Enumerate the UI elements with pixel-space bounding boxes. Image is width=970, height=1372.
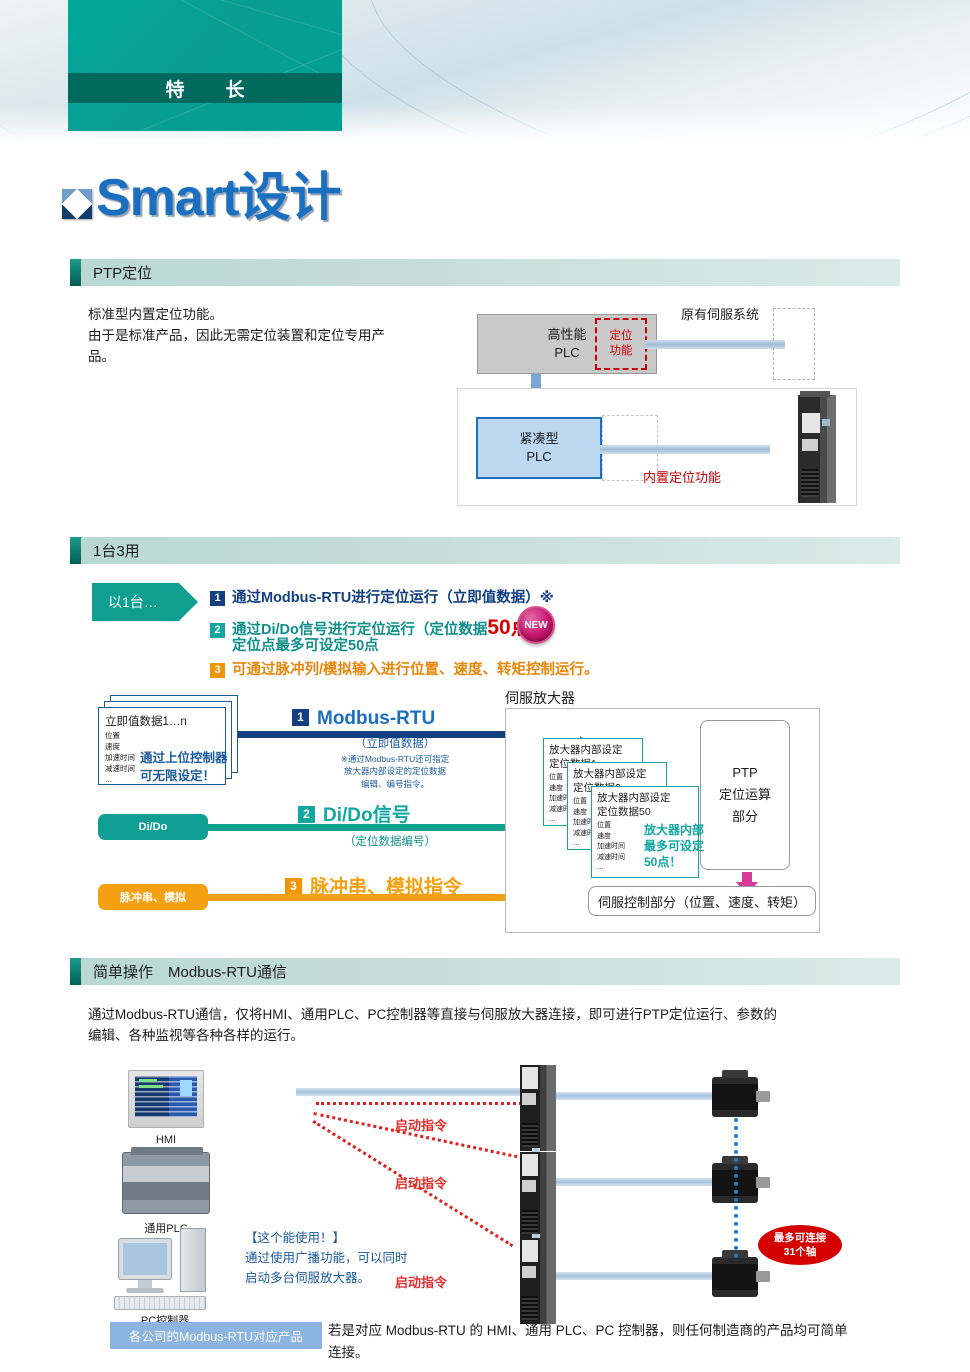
- one-unit-chevron: 以1台…: [92, 583, 198, 621]
- hmi-screen-panel: [180, 1080, 192, 1096]
- pulse-analog-pill-label: 脉冲串、模拟: [120, 889, 186, 905]
- dido-pill-label: Di/Do: [139, 821, 168, 833]
- hmi-screen-bar-1: [139, 1079, 157, 1082]
- channel-1-number: 1: [292, 709, 309, 726]
- three-channel-diagram: 立即值数据1…n 位置 速度 加速时间 减速时间 … 通过上位控制器 可无限设定…: [80, 690, 900, 945]
- channel-1-note: （立即值数据） ※通过Modbus-RTU还可指定 放大器内部设定的定位数据 编…: [280, 735, 510, 790]
- hmi-label: HMI: [128, 1134, 204, 1146]
- plc-top-cap: [131, 1147, 203, 1155]
- motor-2-shaft: [756, 1177, 770, 1188]
- amp-capacity-note: 放大器内部 最多可设定 50点！: [644, 822, 704, 871]
- channel-2-number: 2: [298, 806, 315, 823]
- feature-text-3: 可通过脉冲列/模拟输入进行位置、速度、转矩控制运行。: [232, 662, 599, 678]
- ptp-body-line3: 品。: [88, 347, 448, 368]
- channel-2-note: （定位数据编号）: [290, 833, 490, 849]
- pc-monitor-base: [126, 1288, 164, 1293]
- cable-pipe-top: [645, 340, 785, 349]
- one-unit-chevron-label: 以1台…: [108, 592, 158, 612]
- modbus-compatible-tag-label: 各公司的Modbus-RTU对应产品: [129, 1326, 303, 1345]
- ptp-calculation-label: PTP 定位运算 部分: [719, 762, 771, 828]
- feature-number-1: 1: [210, 591, 225, 606]
- axis-chain-dotted-line: [734, 1118, 738, 1258]
- title-suffix: 设计: [238, 169, 340, 227]
- page-banner: 特 长: [0, 0, 970, 148]
- servo-amp-unit-3: [520, 1238, 556, 1324]
- ptp-diagram: 原有伺服系统 高性能 PLC 定位 功能 紧凑型 PLC 内置定位功能: [455, 300, 905, 510]
- banner-tab: 特 长: [68, 0, 342, 131]
- modbus-intro-line1: 通过Modbus-RTU通信，仅将HMI、通用PLC、PC控制器等直接与伺服放大…: [88, 1005, 948, 1026]
- section-tab-icon: [70, 958, 81, 985]
- cable-pipe-bottom: [600, 445, 770, 454]
- motor-pipe-3: [556, 1272, 714, 1280]
- amp-panel: [802, 413, 820, 433]
- channel-3-number: 3: [285, 878, 302, 895]
- amp-internal-card-50-title: 放大器内部设定 定位数据50: [592, 787, 698, 821]
- pc-screen: [123, 1243, 167, 1275]
- high-performance-plc-label: 高性能 PLC: [547, 326, 586, 361]
- channel-2-label: Di/Do信号: [323, 805, 411, 826]
- channel-1-label: Modbus-RTU: [317, 708, 435, 729]
- amp-led: [822, 419, 830, 426]
- new-badge-label: NEW: [524, 620, 547, 631]
- general-plc-image: [122, 1152, 210, 1214]
- amp-unit-2-face-mid: [522, 1180, 536, 1192]
- amp-connector: [801, 469, 819, 497]
- positioning-function-box: 定位 功能: [595, 318, 647, 370]
- amp-unit-2-face-top: [522, 1154, 538, 1176]
- amp-unit-1-face-mid: [522, 1093, 536, 1105]
- pc-keyboard-image: [114, 1296, 206, 1310]
- banner-tab-diagonal-2: [68, 0, 342, 131]
- amp-top-cap: [800, 391, 830, 397]
- dido-pill: Di/Do: [98, 814, 208, 840]
- bus-pipe-top: [296, 1088, 536, 1096]
- motor-1-cap: [722, 1070, 748, 1078]
- ptp-body-line1: 标准型内置定位功能。: [88, 305, 448, 326]
- legacy-servo-label: 原有伺服系统: [660, 304, 780, 323]
- amp-panel-secondary: [802, 439, 818, 451]
- section-tab-icon: [70, 537, 81, 564]
- section-header-modbus: 简单操作 Modbus-RTU通信: [70, 958, 900, 985]
- servo-amp-unit-2: [520, 1152, 556, 1238]
- compact-plc-box: 紧凑型 PLC: [476, 417, 602, 479]
- diamond-marker-icon: [62, 189, 92, 219]
- page-title-text: Smart设计: [96, 172, 340, 224]
- channel-1-title: 1Modbus-RTU: [292, 708, 435, 730]
- positioning-function-label: 定位 功能: [610, 329, 633, 359]
- axis-count-badge-label: 最多可连接 31个轴: [774, 1231, 827, 1259]
- start-command-label-1: 启动指令: [395, 1115, 447, 1134]
- feature-item-3: 3可通过脉冲列/模拟输入进行位置、速度、转矩控制运行。: [210, 658, 599, 679]
- section-tab-icon: [70, 259, 81, 286]
- channel-1-note-main: （立即值数据）: [355, 738, 436, 750]
- section-header-one-three-label: 1台3用: [93, 540, 140, 561]
- servo-control-box: 伺服控制部分（位置、速度、转矩）: [588, 886, 816, 916]
- modbus-intro-line2: 编辑、各种监视等各种各样的运行。: [88, 1026, 948, 1047]
- broadcast-note: 【这个能使用！】 通过使用广播功能，可以同时 启动多台伺服放大器。: [245, 1228, 408, 1288]
- servo-amplifier-image: [798, 395, 836, 503]
- hmi-device-image: [128, 1070, 204, 1128]
- motor-3-shaft: [756, 1271, 770, 1282]
- title-prefix: Smart: [96, 169, 238, 227]
- amp-unit-3-face-mid: [522, 1266, 536, 1278]
- compact-system-frame: 紧凑型 PLC 内置定位功能: [457, 388, 857, 506]
- amp-unit-1-face-top: [522, 1067, 538, 1089]
- feature-number-3: 3: [210, 663, 225, 678]
- ptp-body-line2: 由于是标准产品，因此无需定位装置和定位专用产: [88, 326, 448, 347]
- servo-amp-unit-1: [520, 1065, 556, 1151]
- amp-unit-1-connector: [522, 1123, 538, 1147]
- section-header-modbus-label: 简单操作 Modbus-RTU通信: [93, 961, 287, 982]
- builtin-positioning-label: 内置定位功能: [643, 467, 721, 486]
- page-title: Smart设计: [62, 172, 340, 224]
- servo-motor-3: [712, 1257, 758, 1297]
- new-badge: NEW: [517, 606, 555, 644]
- banner-tab-label: 特 长: [154, 75, 255, 102]
- axis-count-badge: 最多可连接 31个轴: [758, 1225, 842, 1265]
- section-header-ptp-label: PTP定位: [93, 262, 152, 283]
- pc-tower-image: [180, 1228, 206, 1292]
- feature-number-2: 2: [210, 623, 225, 638]
- ptp-calculation-box: PTP 定位运算 部分: [700, 720, 790, 870]
- modbus-intro-text: 通过Modbus-RTU通信，仅将HMI、通用PLC、PC控制器等直接与伺服放大…: [88, 1005, 948, 1047]
- pc-monitor-image: [118, 1238, 172, 1280]
- hmi-screen: [135, 1076, 197, 1117]
- channel-1-note-small: ※通过Modbus-RTU还可指定 放大器内部设定的定位数据 编辑、编号指令。: [280, 753, 510, 790]
- ptp-body-text: 标准型内置定位功能。 由于是标准产品，因此无需定位装置和定位专用产 品。: [88, 305, 448, 368]
- banner-tab-strip: 特 长: [68, 73, 342, 103]
- pulse-analog-pill: 脉冲串、模拟: [98, 884, 208, 910]
- hmi-screen-bar-2: [139, 1085, 163, 1088]
- modbus-bottom-note: 若是对应 Modbus-RTU 的 HMI、通用 PLC、PC 控制器，则任何制…: [328, 1320, 948, 1363]
- motor-1-shaft: [756, 1091, 770, 1102]
- servo-motor-1: [712, 1077, 758, 1117]
- amp-unit-3-face-top: [522, 1240, 538, 1262]
- channel-2-title: 2Di/Do信号: [298, 800, 411, 827]
- compact-plc-label: 紧凑型 PLC: [519, 430, 558, 465]
- servo-amplifier-region-label: 伺服放大器: [505, 688, 575, 708]
- amp-unit-3-connector: [522, 1296, 538, 1320]
- modbus-compatible-tag: 各公司的Modbus-RTU对应产品: [110, 1322, 322, 1349]
- motor-pipe-2: [556, 1178, 714, 1186]
- section-header-one-three: 1台3用: [70, 537, 900, 564]
- section-header-ptp: PTP定位: [70, 259, 900, 286]
- immediate-data-card-title: 立即值数据1…n: [99, 708, 225, 731]
- modbus-diagram: HMI 通用PLC PC控制器: [100, 1060, 890, 1360]
- command-dotline-1: [316, 1102, 522, 1105]
- legacy-servo-placeholder: [773, 308, 815, 380]
- feature-item-2-line2: 定位点最多可设定50点: [232, 634, 379, 655]
- feature-text-1: 通过Modbus-RTU进行定位运行（立即值数据）※: [232, 590, 554, 606]
- motor-pipe-1: [556, 1092, 714, 1100]
- start-command-label-2: 启动指令: [395, 1173, 447, 1192]
- upper-controller-note: 通过上位控制器 可无限设定！: [140, 750, 228, 785]
- servo-control-label: 伺服控制部分（位置、速度、转矩）: [598, 892, 806, 911]
- feature-item-1: 1通过Modbus-RTU进行定位运行（立即值数据）※: [210, 586, 554, 607]
- amp-unit-2-connector: [522, 1210, 538, 1234]
